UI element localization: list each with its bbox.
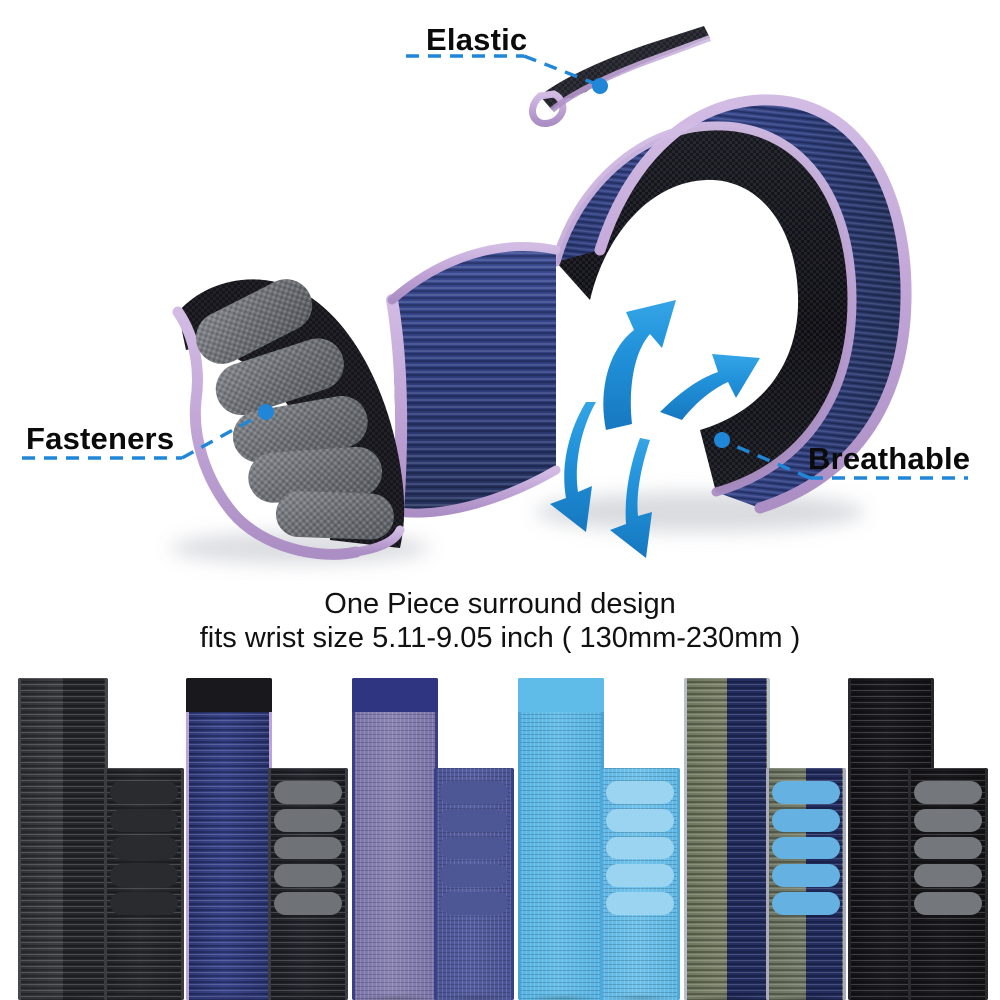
swatch-pad [606, 809, 674, 832]
swatch-fastener-pads [766, 776, 846, 920]
swatch-light-blue-short[interactable] [600, 768, 680, 1000]
swatch-olive-navy-tall[interactable] [684, 678, 770, 1000]
swatch-pad [914, 837, 982, 860]
swatch-fastener-pads [104, 776, 184, 920]
swatch-pad [914, 809, 982, 832]
swatch-pad [772, 837, 840, 860]
fasteners-leader-dot [258, 404, 274, 420]
swatch-shadow [273, 994, 343, 1000]
swatch-fastener-pads [434, 776, 514, 920]
caption-line-1: One Piece surround design [0, 588, 1000, 621]
swatch-edge-left [352, 678, 355, 1000]
hero-band-middle [392, 247, 556, 514]
swatch-shadow [771, 994, 841, 1000]
swatch-pad [606, 892, 674, 915]
swatch-tip-tab [518, 678, 604, 712]
swatch-shadow [523, 994, 599, 1000]
swatch-navy-lavender-short[interactable] [268, 768, 348, 1000]
elastic-leader-dot [592, 78, 608, 94]
swatch-pad [110, 809, 178, 832]
swatch-fastener-pads [908, 776, 988, 920]
swatch-shadow [23, 994, 102, 1000]
swatch-shadow [191, 994, 267, 1000]
swatch-black-short[interactable] [908, 768, 988, 1000]
swatch-fastener-pads [600, 776, 680, 920]
caption-line-2: fits wrist size 5.11-9.05 inch ( 130mm-2… [0, 622, 1000, 655]
swatch-texture [518, 678, 604, 1000]
swatch-black-gray-short[interactable] [104, 768, 184, 1000]
swatch-pad [274, 809, 342, 832]
swatch-pad [772, 864, 840, 887]
swatch-tip-tab [186, 678, 272, 712]
swatch-tip-tab [352, 678, 438, 712]
swatch-pad [772, 781, 840, 804]
swatch-violet-heather-tall[interactable] [352, 678, 438, 1000]
swatch-light-blue-tall[interactable] [518, 678, 604, 1000]
swatch-pad [274, 781, 342, 804]
swatch-pad [110, 781, 178, 804]
swatch-violet-heather-short[interactable] [434, 768, 514, 1000]
swatch-shadow [439, 994, 509, 1000]
swatch-pad [110, 864, 178, 887]
hero-band-left-arc [178, 270, 404, 554]
swatch-pad [110, 837, 178, 860]
swatch-pad [772, 809, 840, 832]
swatch-shadow [689, 994, 765, 1000]
swatch-shadow [109, 994, 179, 1000]
swatch-shadow [357, 994, 433, 1000]
swatch-pad [914, 892, 982, 915]
swatch-texture [18, 678, 108, 1000]
swatch-pad [274, 892, 342, 915]
swatch-pad [440, 864, 508, 887]
swatch-pad [110, 892, 178, 915]
color-swatch-strip [0, 660, 1000, 1000]
callout-label-fasteners: Fasteners [26, 421, 174, 457]
band-velcro-tip [533, 26, 710, 123]
swatch-pad [274, 837, 342, 860]
swatch-edge-left [18, 678, 21, 1000]
swatch-edge-left [848, 678, 851, 1000]
swatch-pad [914, 781, 982, 804]
swatch-shadow [913, 994, 983, 1000]
swatch-edge-left [186, 678, 189, 1000]
swatch-pad [440, 809, 508, 832]
swatch-pad [606, 864, 674, 887]
callout-label-elastic: Elastic [426, 22, 527, 58]
swatch-texture [186, 678, 272, 1000]
swatch-pad [606, 781, 674, 804]
swatch-pad [914, 864, 982, 887]
breathable-leader-dot [714, 432, 730, 448]
swatch-pad [440, 781, 508, 804]
swatch-edge-left [684, 678, 687, 1000]
callout-label-breathable: Breathable [808, 441, 970, 477]
swatch-pad [274, 864, 342, 887]
swatch-pad [440, 837, 508, 860]
swatch-shadow [605, 994, 675, 1000]
swatch-texture [684, 678, 770, 1000]
swatch-fastener-pads [268, 776, 348, 920]
infographic-canvas: Elastic Fasteners Breathable One Piece s… [0, 0, 1000, 1000]
swatch-navy-lavender-tall[interactable] [186, 678, 272, 1000]
swatch-texture [352, 678, 438, 1000]
swatch-edge-left [518, 678, 521, 1000]
swatch-pad [772, 892, 840, 915]
swatch-pad [440, 892, 508, 915]
swatch-olive-navy-short[interactable] [766, 768, 846, 1000]
swatch-black-gray-tall[interactable] [18, 678, 108, 1000]
swatch-pad [606, 837, 674, 860]
